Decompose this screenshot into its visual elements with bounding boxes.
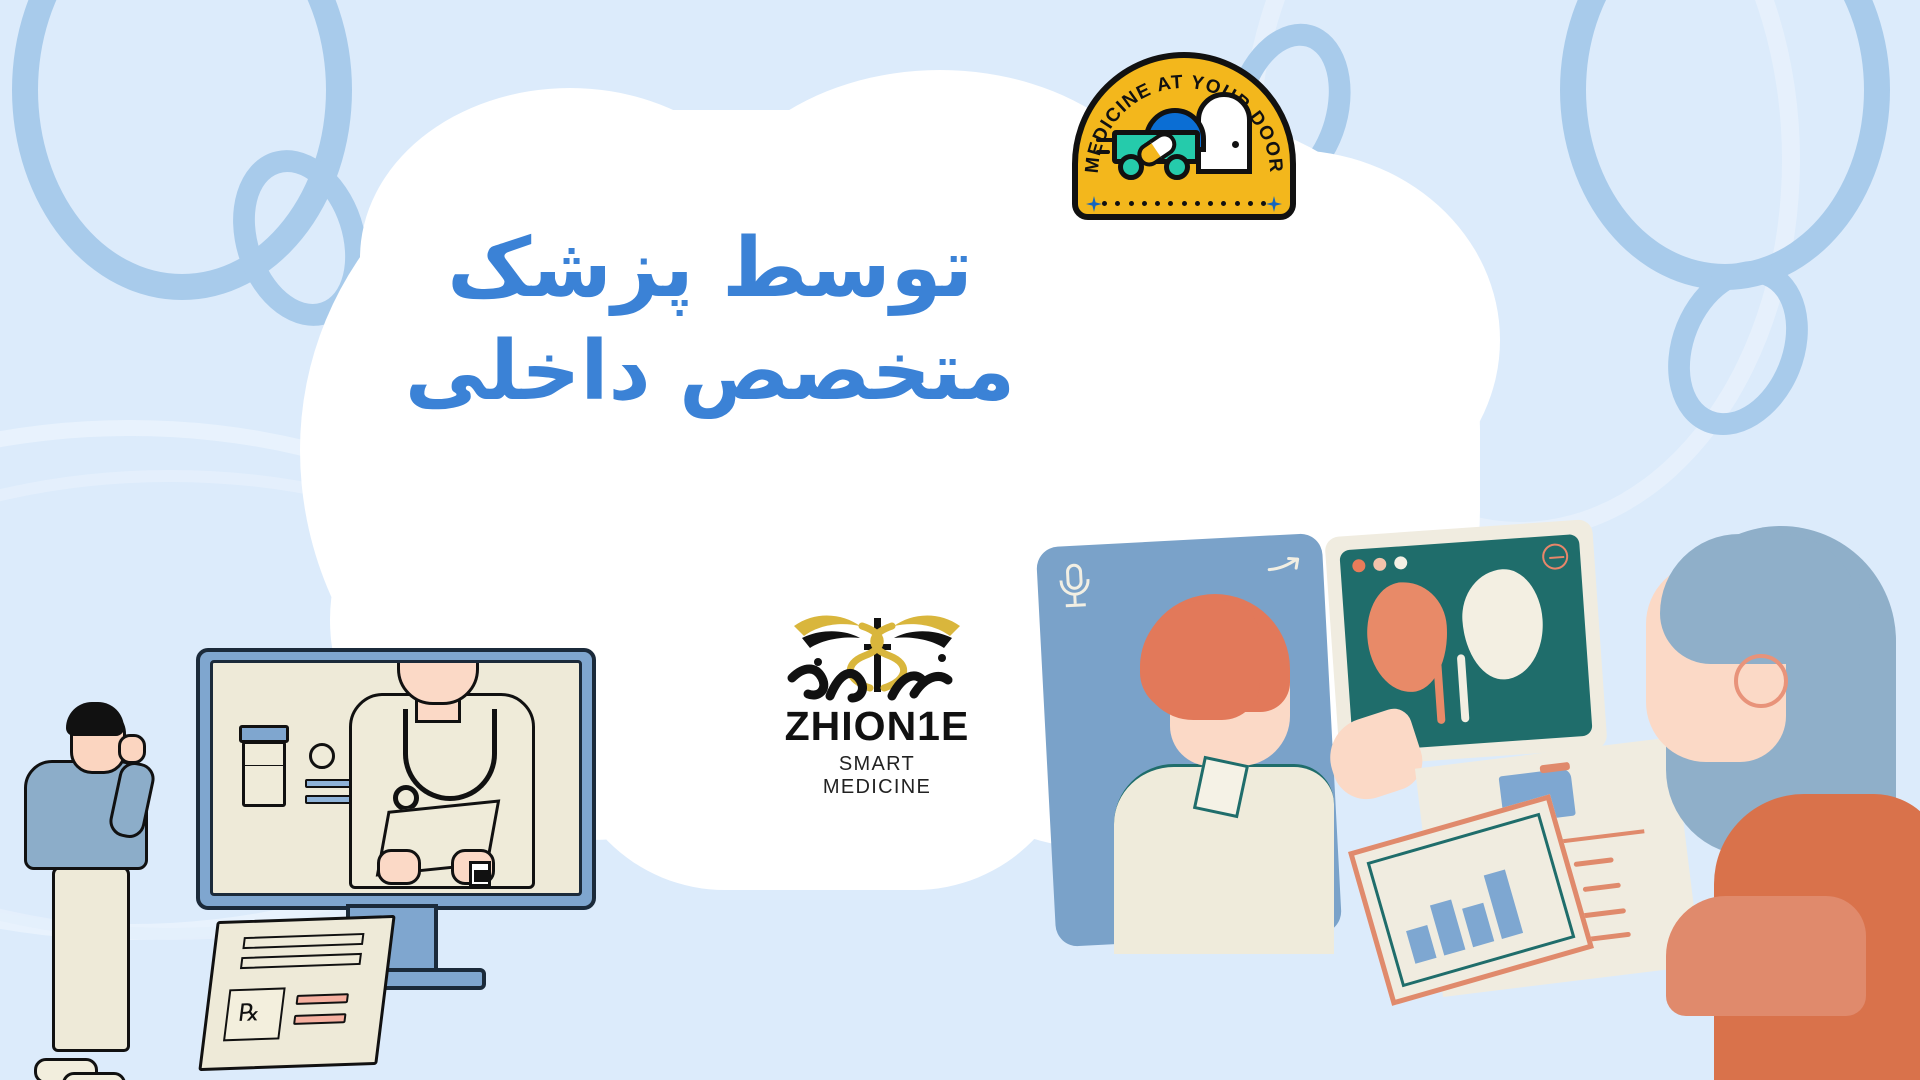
headline-line-1: توسط پزشک [447, 221, 973, 316]
prescription-header-line [240, 953, 362, 969]
speed-line [1096, 150, 1110, 154]
monitor-screen [210, 660, 582, 896]
printed-prescription: ℞ [198, 915, 395, 1071]
medicine-at-your-door-badge: MEDICINE AT YOUR DOOR [1072, 52, 1296, 220]
woman-arm [1666, 896, 1866, 1016]
prescription-line [293, 1013, 346, 1025]
pill-circle-icon [309, 743, 335, 769]
stethoscope-icon [403, 709, 497, 801]
chart-bar [1430, 899, 1465, 955]
doctor-on-screen [343, 660, 543, 896]
kidney-right [1459, 567, 1546, 682]
delivery-truck-icon [1112, 110, 1208, 172]
brand-logo: ZHION1E SMART MEDICINE [782, 600, 972, 799]
microphone-icon[interactable] [1059, 563, 1091, 609]
wristwatch-icon [469, 861, 491, 887]
doctor-hand [377, 849, 421, 885]
man-in-pain-illustration [18, 700, 168, 1080]
truck-wheel [1118, 154, 1144, 180]
man-hair [66, 702, 124, 736]
prescription-line [296, 993, 349, 1005]
door-knob [1232, 141, 1239, 148]
ureter-right [1457, 654, 1470, 722]
caduceus-icon [782, 600, 972, 710]
telemedicine-monitor [196, 648, 596, 910]
ureter-left [1433, 662, 1445, 724]
chart-bar [1462, 903, 1494, 948]
doctor-hair-front [1140, 600, 1260, 720]
logo-wordmark: ZHION1E [782, 706, 972, 747]
mic-stem [1073, 594, 1077, 604]
hoop-earring-icon [1734, 654, 1788, 708]
woman-hair-top [1660, 534, 1860, 664]
medicine-bottle-icon [239, 725, 289, 807]
rx-icon: ℞ [237, 998, 262, 1028]
man-legs [52, 866, 130, 1052]
bottle-label-line [242, 765, 286, 766]
man-shoe [62, 1072, 126, 1080]
report-text-line [1574, 857, 1614, 867]
mic-foot [1066, 603, 1086, 607]
report-text-line [1583, 883, 1621, 893]
headline-line-2: متخصص داخلی [380, 321, 1040, 424]
badge-dotted-border [1102, 200, 1266, 206]
laptop-screen [1367, 813, 1576, 988]
bottle-body [242, 741, 286, 807]
man-hand [118, 734, 146, 764]
arrow-right-icon[interactable] [1267, 556, 1302, 578]
woman-at-laptop-illustration [1626, 526, 1920, 1080]
doctor-orange-hair-illustration [1106, 594, 1336, 944]
circle-arrow-icon[interactable] [1541, 543, 1569, 571]
prescription-header-line [242, 933, 364, 949]
window-dots [1352, 556, 1408, 573]
logo-tagline: SMART MEDICINE [782, 753, 972, 799]
truck-wheel [1164, 154, 1190, 180]
banner-canvas: MEDICINE AT YOUR DOOR توسط پزشک [0, 0, 1920, 1080]
page-title: توسط پزشک متخصص داخلی [380, 218, 1040, 423]
chart-bar [1406, 925, 1437, 964]
